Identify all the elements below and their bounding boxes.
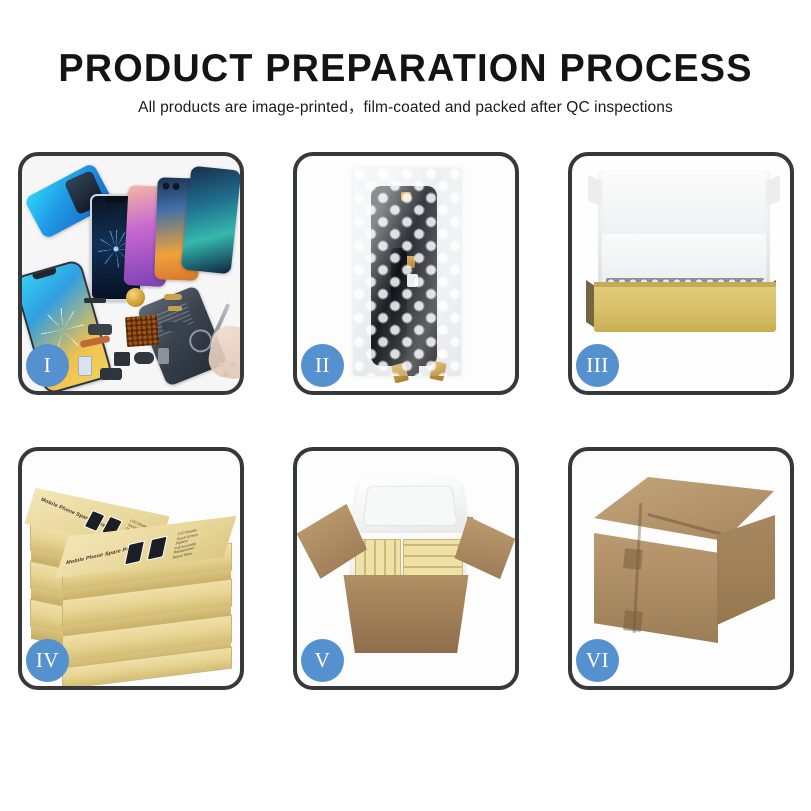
chip-grid-icon [125, 315, 159, 347]
earpiece-part-icon [84, 298, 106, 303]
teal-phone-icon [181, 166, 240, 275]
step-badge-3: III [576, 344, 619, 387]
sensor-part-icon [78, 356, 92, 376]
camera-module-icon [88, 324, 112, 335]
box-thumbnail-front-1 [124, 540, 145, 565]
gold-flex-part-icon [168, 306, 182, 311]
process-step-grid: I II [18, 152, 795, 690]
step-badge-5: V [301, 639, 344, 682]
button-part-icon [134, 352, 154, 364]
process-step-panel-2[interactable]: II [293, 152, 519, 395]
plastic-sheen-overlay [353, 168, 461, 376]
gold-connector-part-icon [164, 294, 182, 300]
antenna-part-icon [162, 322, 188, 331]
process-step-panel-3[interactable]: III [568, 152, 794, 395]
step-badge-4: IV [26, 639, 69, 682]
speaker-mesh-icon [126, 288, 145, 307]
carton-tape-upper-icon [623, 548, 643, 570]
box-specs-front: LCD Display Touch Screen Digitizer Full … [172, 527, 200, 560]
process-step-panel-5[interactable]: V [293, 447, 519, 690]
bubble-wrap-bag-icon [353, 168, 461, 376]
step-badge-6: VI [576, 639, 619, 682]
sim-tray-icon [158, 348, 169, 364]
process-step-panel-6[interactable]: VI [568, 447, 794, 690]
foam-box-lid-icon [350, 479, 471, 539]
carton-tape-lower-icon [623, 610, 643, 632]
process-step-panel-4[interactable]: Mobile Phone Spare Parts LCD Display Tou… [18, 447, 244, 690]
white-foam-sheet-icon [602, 234, 766, 284]
product-preparation-page: PRODUCT PREPARATION PROCESS All products… [0, 0, 811, 811]
process-step-panel-1[interactable]: I [18, 152, 244, 395]
page-subtitle: All products are image-printed，film-coat… [0, 91, 811, 118]
step-badge-1: I [26, 344, 69, 387]
box-thumbnail-front-2 [147, 536, 168, 561]
vibrator-part-icon [114, 352, 130, 366]
step-badge-2: II [301, 344, 344, 387]
page-title: PRODUCT PREPARATION PROCESS [12, 0, 799, 91]
kraft-box-tray-icon [594, 282, 776, 332]
page-header: PRODUCT PREPARATION PROCESS All products… [0, 0, 811, 118]
carton-front-face-icon [594, 533, 718, 643]
carton-body-icon [335, 575, 477, 653]
charging-port-icon [100, 368, 122, 380]
